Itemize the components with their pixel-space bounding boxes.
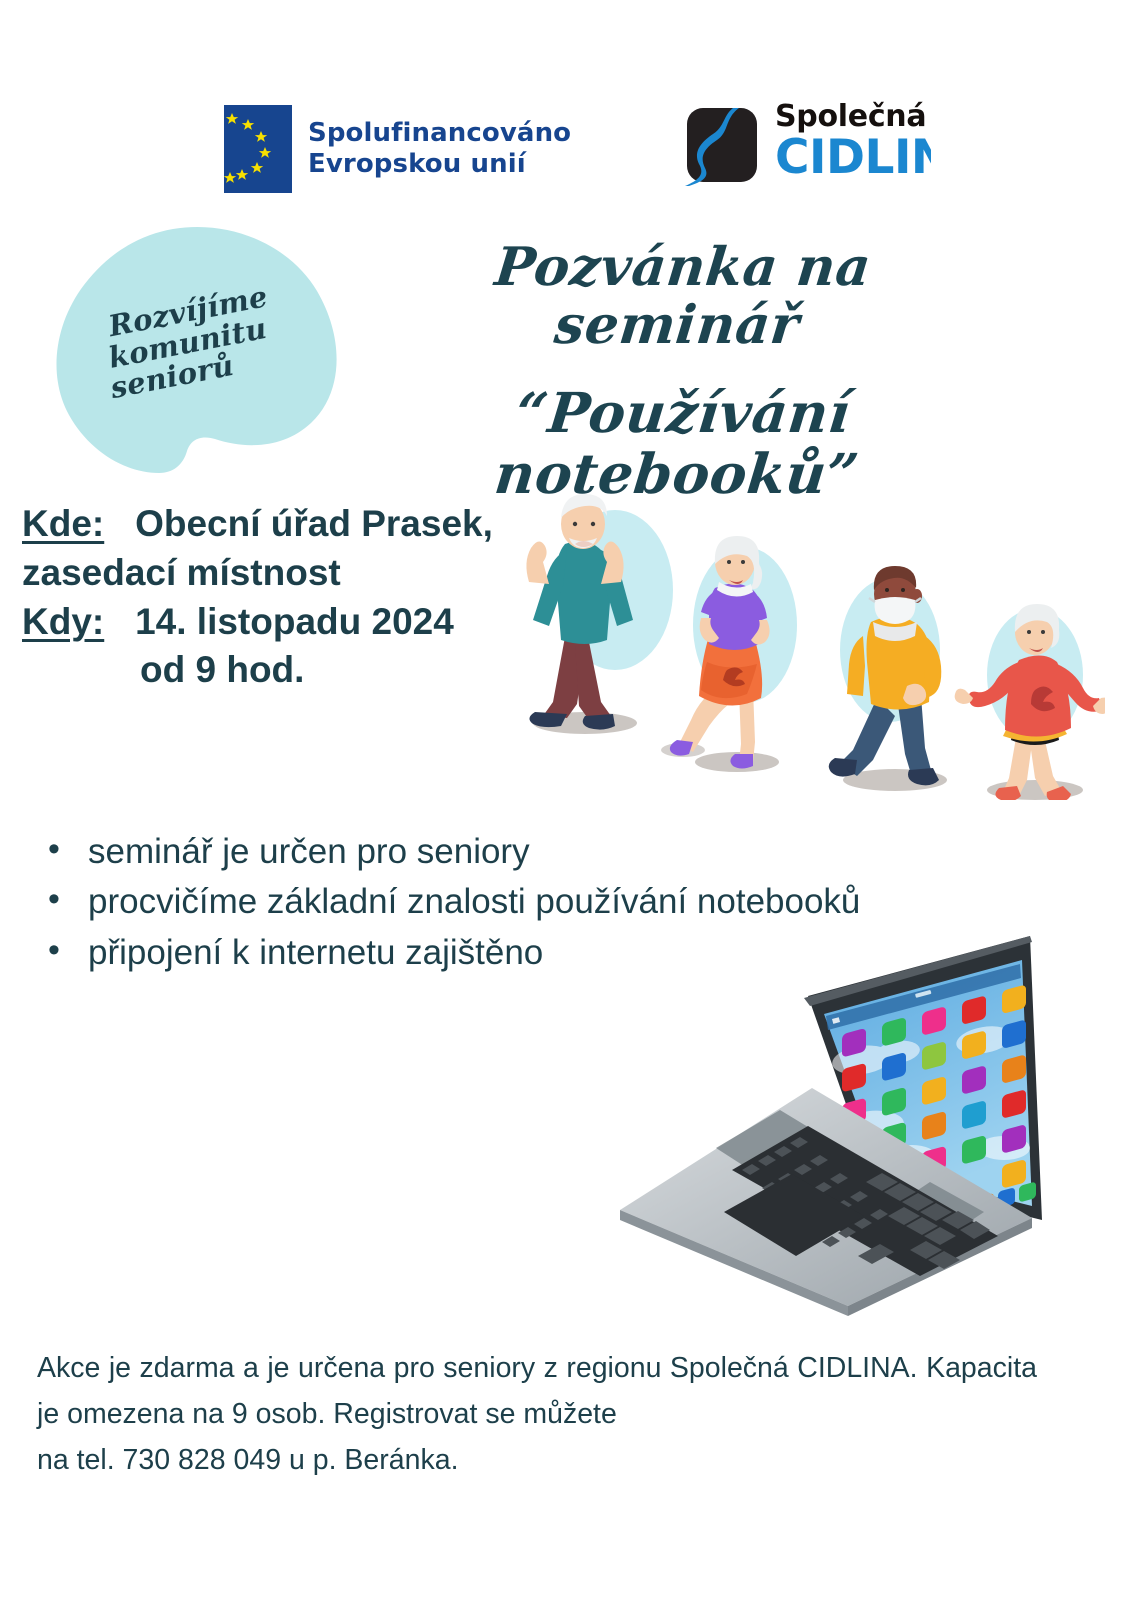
poster-title-line1: Pozvánka na seminář: [394, 238, 966, 355]
eu-cofunding-logo: Spolufinancováno Evropskou unií: [224, 105, 571, 193]
cidlina-logo-line1: Společná: [775, 102, 931, 132]
eu-flag-icon: [224, 105, 292, 193]
cidlina-logo-text: Společná CIDLINA: [775, 102, 931, 182]
eu-logo-line2: Evropskou unií: [308, 149, 571, 180]
community-badge: Rozvíjíme komunitu seniorů: [55, 225, 355, 475]
cidlina-logo-line2: CIDLINA: [775, 134, 931, 182]
event-details: Kde: Obecní úřad Prasek, zasedací místno…: [22, 500, 542, 695]
eu-logo-text: Spolufinancováno Evropskou unií: [308, 118, 571, 179]
footer-line2: na tel. 730 828 049 u p. Beránka.: [37, 1437, 1037, 1483]
cidlina-logo: Společná CIDLINA: [683, 100, 931, 195]
list-item: seminář je určen pro seniory: [36, 828, 916, 876]
event-when-value2: od 9 hod.: [140, 649, 304, 690]
event-when-value: 14. listopadu 2024: [135, 601, 454, 642]
eu-logo-line1: Spolufinancováno: [308, 118, 571, 149]
event-where-value: Obecní úřad Prasek,: [135, 503, 493, 544]
footer-line1: Akce je zdarma a je určena pro seniory z…: [37, 1345, 1037, 1437]
event-where-value2: zasedací místnost: [22, 549, 542, 598]
event-when-value2-row: od 9 hod.: [22, 646, 542, 695]
event-where-label: Kde:: [22, 503, 104, 544]
cidlina-river-mark-icon: [683, 106, 765, 188]
event-where-row: Kde: Obecní úřad Prasek,: [22, 500, 542, 549]
open-laptop-illustration: [612, 920, 1042, 1320]
footer-note: Akce je zdarma a je určena pro seniory z…: [37, 1345, 1037, 1483]
dancing-seniors-illustration: [505, 440, 1105, 800]
event-when-row: Kdy: 14. listopadu 2024: [22, 598, 542, 647]
event-when-label: Kdy:: [22, 601, 104, 642]
